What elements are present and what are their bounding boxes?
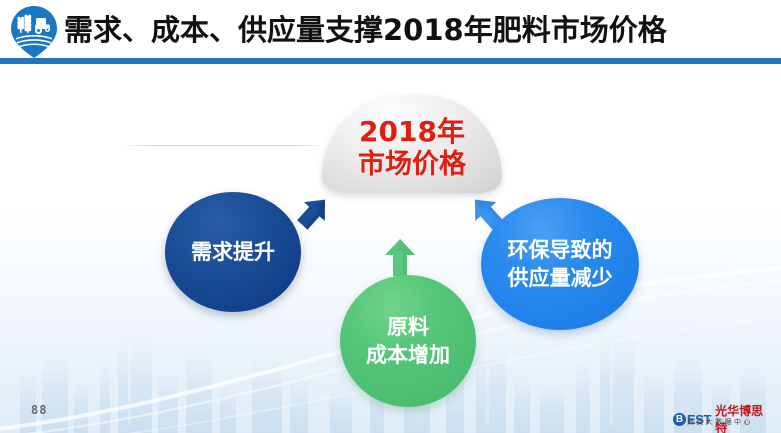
node-cost[interactable]: 原料 成本增加 [340,275,476,407]
arrow-up-right-icon [292,193,334,233]
center-node-line2: 市场价格 [322,148,502,181]
node-cost-label: 原料 成本增加 [366,313,450,369]
slide: 需求、成本、供应量支撑2018年肥料市场价格 [0,0,781,433]
brand-logo: B EST 光华博思特 消费大数据中心 [673,402,775,428]
node-supply-line2: 供应量减少 [508,264,613,292]
node-demand-line1: 需求提升 [191,239,275,265]
node-demand-label: 需求提升 [191,239,275,265]
node-supply-label: 环保导致的 供应量减少 [508,236,613,292]
node-demand[interactable]: 需求提升 [165,192,301,312]
center-node-label: 2018年 市场价格 [322,115,502,181]
brand-logo-subtitle: 消费大数据中心 [687,417,753,427]
page-title: 需求、成本、供应量支撑2018年肥料市场价格 [64,8,667,52]
node-supply-line1: 环保导致的 [508,236,613,264]
brand-logo-mark: B [673,413,686,426]
node-supply[interactable]: 环保导致的 供应量减少 [481,198,639,330]
node-cost-line2: 成本增加 [366,341,450,369]
decorative-rule [122,145,332,146]
center-node-market-price[interactable]: 2018年 市场价格 [322,95,502,193]
agriculture-location-pin-icon [8,4,60,60]
page-number: 88 [31,403,47,417]
center-node-line1: 2018年 [359,115,465,148]
slide-body: 2018年 市场价格 [0,64,781,433]
arrow-up-icon [382,236,418,278]
node-cost-line1: 原料 [366,313,450,341]
slide-header: 需求、成本、供应量支撑2018年肥料市场价格 [0,0,781,64]
